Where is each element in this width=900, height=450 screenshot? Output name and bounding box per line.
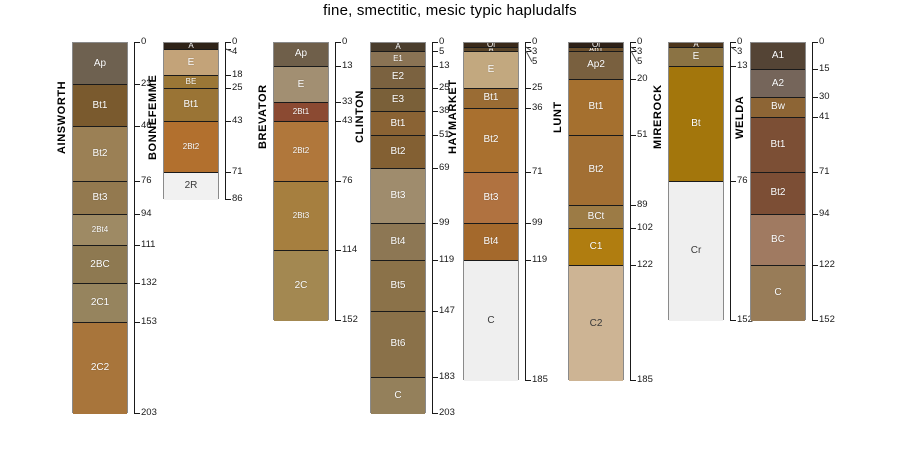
horizon-label: Bt2 (588, 165, 603, 175)
soil-horizon[interactable]: C2 (569, 266, 623, 381)
axis-tick-label: 86 (232, 194, 243, 204)
axis-tick-label: 185 (637, 375, 653, 385)
soil-horizon[interactable]: C (751, 266, 805, 321)
horizon-label: Bt2 (770, 188, 785, 198)
soil-horizon[interactable]: Bt1 (569, 80, 623, 137)
soil-horizon[interactable]: 2Bt2 (164, 122, 218, 173)
axis-tick (812, 97, 818, 98)
axis-tick (134, 84, 140, 85)
axis-tick (432, 413, 438, 414)
soil-horizon[interactable]: Bt1 (751, 118, 805, 173)
horizon-label: 2BC (90, 260, 109, 270)
axis-tick (134, 245, 140, 246)
profile-name-label: AINSWORTH (56, 42, 68, 192)
horizon-label: Bt5 (390, 281, 405, 291)
horizon-label: BE (186, 78, 197, 86)
axis-tick (812, 265, 818, 266)
axis-tick (525, 380, 531, 381)
axis-tick (335, 121, 341, 122)
axis-tick (812, 42, 818, 43)
axis-tick-label: 15 (819, 64, 830, 74)
soil-horizon[interactable]: Bt3 (464, 173, 518, 224)
axis-tick-label: 0 (819, 37, 824, 47)
soil-horizon[interactable]: Bt1 (73, 85, 127, 127)
horizon-label: 2Bt2 (293, 147, 309, 155)
page-title: fine, smectitic, mesic typic hapludalfs (0, 2, 900, 19)
axis-tick-label: 41 (819, 112, 830, 122)
axis-tick (432, 88, 438, 89)
axis-tick-label: 13 (342, 61, 353, 71)
soil-horizon[interactable]: Bt3 (73, 182, 127, 215)
profile-name-label: HAYMARKET (447, 42, 459, 192)
soil-horizon[interactable]: E (669, 48, 723, 66)
soil-horizon[interactable]: 2BC (73, 246, 127, 284)
soil-horizon[interactable]: E (464, 52, 518, 89)
axis-tick (134, 42, 140, 43)
axis-tick (225, 172, 231, 173)
axis-tick (134, 126, 140, 127)
axis-tick (335, 250, 341, 251)
axis-tick-label: 119 (439, 255, 454, 265)
axis-tick-label: 185 (532, 375, 548, 385)
axis-tick (630, 135, 636, 136)
soil-horizon[interactable]: Bt (669, 67, 723, 182)
soil-horizon[interactable]: Bt2 (751, 173, 805, 215)
soil-horizon[interactable]: A2 (751, 70, 805, 97)
horizon-label: A (395, 43, 400, 51)
axis-tick-label: 203 (439, 408, 455, 418)
horizon-label: C2 (590, 319, 603, 329)
axis-tick (630, 265, 636, 266)
profile-name-label: LUNT (552, 42, 564, 192)
axis-tick (630, 79, 636, 80)
axis-tick-label: 153 (141, 317, 157, 327)
horizon-label: A2 (772, 79, 784, 89)
axis-tick-label: 99 (532, 218, 543, 228)
depth-axis (630, 42, 631, 380)
horizon-label: Bt1 (390, 119, 405, 129)
horizon-label: Bt1 (92, 101, 107, 111)
horizon-label: C (487, 316, 494, 326)
horizon-label: Bt4 (483, 237, 498, 247)
profile-column: AEBtCr (668, 42, 724, 320)
horizon-label: 2Bt2 (183, 143, 199, 151)
soil-horizon[interactable]: Bt1 (164, 89, 218, 122)
axis-tick-label: 43 (232, 116, 243, 126)
soil-horizon[interactable]: C (464, 261, 518, 382)
axis-tick (525, 172, 531, 173)
soil-horizon[interactable]: Bt3 (371, 169, 425, 224)
profile-name-label: CLINTON (354, 42, 366, 192)
horizon-label: E2 (392, 72, 404, 82)
depth-axis (432, 42, 433, 413)
soil-horizon[interactable]: A (164, 43, 218, 50)
soil-horizon[interactable]: Bt5 (371, 261, 425, 312)
axis-tick (730, 320, 736, 321)
depth-axis (525, 42, 526, 380)
soil-horizon[interactable]: 2C (274, 251, 328, 320)
axis-tick-label: 0 (342, 37, 347, 47)
axis-tick (432, 135, 438, 136)
horizon-label: C1 (590, 242, 603, 252)
profile-column: AE1E2E3Bt1Bt2Bt3Bt4Bt5Bt6C (370, 42, 426, 413)
soil-horizon[interactable]: C1 (569, 229, 623, 266)
horizon-label: 2C2 (91, 363, 109, 373)
profile-column: ApE2Bt12Bt22Bt32C (273, 42, 329, 320)
soil-horizon[interactable]: Bt2 (371, 136, 425, 169)
axis-tick-label: 147 (439, 306, 455, 316)
axis-tick-label: 0 (141, 37, 146, 47)
axis-tick (432, 111, 438, 112)
soil-horizon[interactable]: 2Bt4 (73, 215, 127, 246)
horizon-label: Bt3 (483, 193, 498, 203)
axis-tick (432, 66, 438, 67)
axis-tick (812, 320, 818, 321)
horizon-label: Ap2 (587, 60, 605, 70)
soil-horizon[interactable]: E (164, 50, 218, 76)
soil-horizon[interactable]: A1 (751, 43, 805, 70)
axis-tick (432, 223, 438, 224)
axis-tick (525, 260, 531, 261)
depth-axis (812, 42, 813, 320)
soil-horizon[interactable]: Bt2 (73, 127, 127, 182)
profile-name-label: WELDA (734, 42, 746, 192)
horizon-label: Bt6 (390, 339, 405, 349)
axis-tick (134, 283, 140, 284)
horizon-label: Bt2 (92, 149, 107, 159)
soil-horizon[interactable]: 2Bt2 (274, 122, 328, 182)
soil-horizon[interactable]: E1 (371, 52, 425, 67)
axis-tick (812, 172, 818, 173)
axis-tick (525, 223, 531, 224)
axis-tick (225, 199, 231, 200)
axis-tick (630, 228, 636, 229)
horizon-label: BCt (588, 212, 605, 222)
horizon-label: E (298, 80, 305, 90)
horizon-label: 2Bt4 (92, 226, 108, 234)
horizon-label: Ap (94, 59, 106, 69)
horizon-label: Bt2 (390, 147, 405, 157)
soil-horizon[interactable]: 2Bt1 (274, 103, 328, 121)
axis-tick-label: 43 (342, 116, 353, 126)
axis-tick-label: 152 (819, 315, 835, 325)
axis-tick (630, 205, 636, 206)
axis-tick (432, 311, 438, 312)
axis-tick (432, 260, 438, 261)
horizon-label: BC (771, 235, 785, 245)
axis-tick (812, 69, 818, 70)
horizon-label: Bt3 (92, 193, 107, 203)
soil-profile-chart: fine, smectitic, mesic typic hapludalfs … (0, 0, 900, 450)
axis-tick (134, 181, 140, 182)
axis-tick (525, 42, 531, 43)
axis-tick (225, 88, 231, 89)
axis-tick-label: 132 (141, 278, 157, 288)
profile-name-label: BONNEFEMME (147, 42, 159, 192)
horizon-label: Bt1 (483, 93, 498, 103)
horizon-label: A (188, 43, 193, 50)
soil-horizon[interactable]: Cr (669, 182, 723, 321)
horizon-label: C (394, 391, 401, 401)
profile-column: OiAEBt1Bt2Bt3Bt4C (463, 42, 519, 380)
horizon-label: Ap (295, 49, 307, 59)
axis-tick-label: 203 (141, 408, 157, 418)
profile-column: AEBEBt12Bt22R (163, 42, 219, 199)
axis-tick (432, 377, 438, 378)
axis-tick-label: 76 (342, 176, 353, 186)
profile-column: A1A2BwBt1Bt2BCC (750, 42, 806, 320)
axis-tick-label: 71 (532, 167, 543, 177)
horizon-label: E1 (393, 55, 403, 63)
axis-tick-label: 122 (819, 260, 835, 270)
soil-horizon[interactable]: Ap (73, 43, 127, 85)
soil-horizon[interactable]: Ap (274, 43, 328, 67)
axis-tick (525, 88, 531, 89)
soil-horizon[interactable]: Bt2 (464, 109, 518, 173)
axis-tick-label: 94 (141, 209, 152, 219)
horizon-label: Bt1 (588, 102, 603, 112)
profile-column: ApBt1Bt2Bt32Bt42BC2C12C2 (72, 42, 128, 413)
horizon-label: C (774, 288, 781, 298)
soil-horizon[interactable]: Bt4 (464, 224, 518, 261)
horizon-label: Bt3 (390, 191, 405, 201)
axis-tick-label: 94 (819, 209, 830, 219)
soil-horizon[interactable]: Bt2 (569, 136, 623, 205)
horizon-label: 2R (185, 181, 198, 191)
soil-horizon[interactable]: A (371, 43, 425, 52)
axis-tick-label: 71 (819, 167, 830, 177)
axis-tick (335, 66, 341, 67)
soil-horizon[interactable]: BC (751, 215, 805, 266)
tick-leader-line (226, 49, 233, 53)
soil-horizon[interactable]: BCt (569, 206, 623, 230)
soil-horizon[interactable]: Bw (751, 98, 805, 118)
axis-tick-label: 102 (637, 223, 653, 233)
soil-horizon[interactable]: Bt1 (371, 112, 425, 136)
axis-tick (134, 413, 140, 414)
axis-tick (225, 42, 231, 43)
horizon-label: Bt (691, 119, 700, 129)
profile-name-label: MIREROCK (652, 42, 664, 192)
horizon-label: Bt1 (770, 140, 785, 150)
horizon-label: 2C (295, 281, 308, 291)
axis-tick-label: 99 (439, 218, 450, 228)
axis-tick (432, 168, 438, 169)
axis-tick-label: 152 (342, 315, 358, 325)
horizon-label: 2C1 (91, 298, 109, 308)
axis-tick (134, 322, 140, 323)
horizon-label: E (693, 52, 700, 62)
profile-column: OiAp1Ap2Bt1Bt2BCtC1C2 (568, 42, 624, 380)
depth-axis (134, 42, 135, 413)
soil-horizon[interactable]: 2C2 (73, 323, 127, 414)
axis-tick-label: 20 (637, 74, 648, 84)
axis-tick-label: 25 (232, 83, 243, 93)
soil-horizon[interactable]: E3 (371, 89, 425, 113)
axis-tick-label: 33 (342, 97, 353, 107)
soil-horizon[interactable]: 2Bt3 (274, 182, 328, 251)
soil-horizon[interactable]: E2 (371, 67, 425, 89)
axis-tick (225, 75, 231, 76)
axis-tick-label: 36 (532, 103, 543, 113)
horizon-label: Bt2 (483, 135, 498, 145)
horizon-label: Cr (691, 246, 702, 256)
axis-tick-label: 30 (819, 92, 830, 102)
axis-tick-label: 122 (637, 260, 653, 270)
soil-horizon[interactable]: Bt6 (371, 312, 425, 378)
horizon-label: Bt1 (183, 100, 198, 110)
axis-tick-label: 111 (141, 240, 155, 250)
axis-tick (335, 181, 341, 182)
soil-horizon[interactable]: BE (164, 76, 218, 89)
axis-tick-label: 183 (439, 372, 455, 382)
axis-tick (812, 117, 818, 118)
axis-tick (630, 380, 636, 381)
horizon-label: Bw (771, 102, 785, 112)
axis-tick-label: 18 (232, 70, 243, 80)
soil-horizon[interactable]: Bt1 (464, 89, 518, 109)
soil-horizon[interactable]: 2C1 (73, 284, 127, 322)
axis-tick (525, 108, 531, 109)
axis-tick-label: 71 (232, 167, 243, 177)
axis-tick (335, 320, 341, 321)
horizon-label: E (188, 58, 195, 68)
tick-leader-line (526, 51, 533, 63)
axis-tick (812, 214, 818, 215)
axis-tick (432, 42, 438, 43)
horizon-label: A1 (772, 51, 784, 61)
axis-tick-label: 5 (439, 47, 444, 57)
axis-tick (225, 121, 231, 122)
horizon-label: 2Bt1 (293, 108, 309, 116)
axis-tick-label: 114 (342, 245, 357, 255)
soil-horizon[interactable]: 2R (164, 173, 218, 200)
tick-leader-line (631, 51, 638, 63)
horizon-label: E3 (392, 95, 404, 105)
profile-name-label: BREVATOR (257, 42, 269, 192)
axis-tick-label: 119 (532, 255, 547, 265)
soil-horizon[interactable]: C (371, 378, 425, 415)
horizon-label: Bt4 (390, 237, 405, 247)
soil-horizon[interactable]: Bt4 (371, 224, 425, 261)
axis-tick (335, 102, 341, 103)
soil-horizon[interactable]: Ap2 (569, 52, 623, 79)
soil-horizon[interactable]: E (274, 67, 328, 104)
axis-tick-label: 89 (637, 200, 648, 210)
axis-tick-label: 25 (532, 83, 543, 93)
axis-tick (432, 51, 438, 52)
axis-tick (630, 42, 636, 43)
axis-tick (134, 214, 140, 215)
axis-tick (335, 42, 341, 43)
horizon-label: 2Bt3 (293, 212, 309, 220)
horizon-label: E (488, 65, 495, 75)
axis-tick-label: 51 (637, 130, 648, 140)
